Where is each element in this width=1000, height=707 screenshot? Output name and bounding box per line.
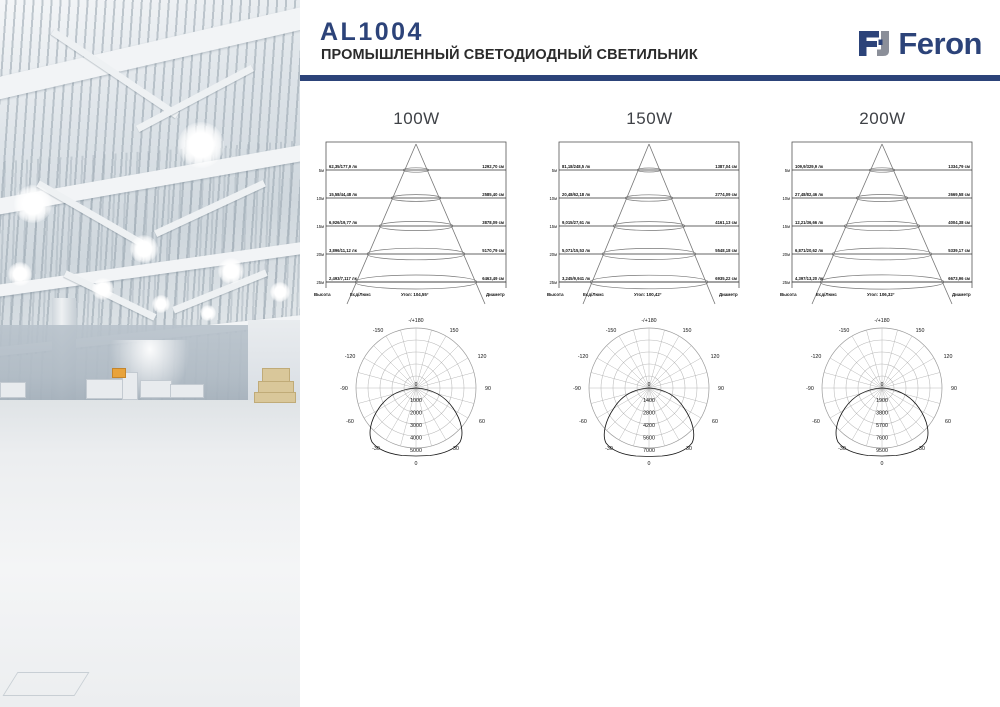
equipment [0, 382, 26, 398]
brand-wordmark: Feron [898, 28, 982, 59]
chart-column-150w: 150W 5м 1 [533, 84, 766, 504]
angle-tick-180: -/+180 [408, 318, 423, 324]
height-label: 20м [316, 252, 324, 257]
diameter-value: 5339,17 см [948, 248, 970, 253]
ecd-lux-value: 4,397/13,20 лк [795, 276, 824, 281]
angle-tick-minus90: -90 [573, 386, 581, 392]
diameter-value: 3878,09 см [482, 220, 504, 225]
height-label: 25м [782, 280, 790, 285]
diameter-value: 2669,58 см [948, 192, 970, 197]
height-label: 5м [785, 168, 790, 173]
diameter-value: 2774,09 см [715, 192, 737, 197]
axis-caption-height: Высота [314, 292, 331, 297]
ring-label: 3800 [876, 411, 888, 417]
ecd-lux-value: 81,18/248,5 лк [562, 164, 591, 169]
chart-title-100w: 100W [300, 109, 533, 129]
equipment [112, 368, 126, 378]
header: AL1004 ПРОМЫШЛЕННЫЙ СВЕТОДИОДНЫЙ СВЕТИЛЬ… [300, 0, 1000, 78]
axis-caption-diameter: Диаметр [486, 292, 505, 297]
angle-tick-180: -/+180 [641, 318, 656, 324]
ecd-lux-value: 27,48/82,46 лк [795, 192, 824, 197]
axis-caption-ecd: Есд/Люкс [816, 292, 837, 297]
angle-tick-60: 60 [479, 419, 485, 425]
equipment [170, 384, 204, 398]
ring-label: 2800 [643, 411, 655, 417]
ecd-lux-value: 15,58/44,48 лк [329, 192, 358, 197]
angle-tick-minus90: -90 [806, 386, 814, 392]
beam-diagram-200w: 5м 10м 15м 20м 25м 109,9/329,9 лк 27,48/… [766, 136, 999, 306]
angle-tick-30: 30 [686, 446, 692, 452]
diameter-value: 6935,22 см [715, 276, 737, 281]
ecd-lux-value: 2,493/7,117 лк [329, 276, 358, 281]
height-label: 10м [549, 196, 557, 201]
pallet-crate [254, 392, 296, 403]
angle-tick-minus30: -30 [605, 446, 613, 452]
ring-label: 7000 [643, 448, 655, 454]
ecd-lux-value: 62,35/177,9 лк [329, 164, 358, 169]
angle-tick-60: 60 [945, 419, 951, 425]
diameter-value: 6463,49 см [482, 276, 504, 281]
header-divider [300, 75, 1000, 81]
axis-caption-ecd: Есд/Люкс [583, 292, 604, 297]
height-label: 5м [319, 168, 324, 173]
axis-caption-height: Высота [547, 292, 564, 297]
highbay-lamp [130, 235, 158, 263]
diameter-value: 1292,70 см [482, 164, 504, 169]
pallet-crate [262, 368, 290, 382]
angle-tick-150: 150 [683, 328, 692, 334]
height-label: 15м [549, 224, 557, 229]
ecd-lux-value: 9,015/27,61 лк [562, 220, 591, 225]
ecd-lux-value: 12,21/36,66 лк [795, 220, 824, 225]
ecd-lux-value: 20,48/62,18 лк [562, 192, 591, 197]
polar-diagram-200w: 0 1900 3800 5700 7600 9500 0 -/+180 -150… [766, 308, 999, 488]
ring-label: 2000 [410, 411, 422, 417]
angle-tick-150: 150 [450, 328, 459, 334]
axis-caption-angle: Угол: 106,32° [867, 292, 895, 297]
diameter-value: 5548,18 см [715, 248, 737, 253]
ring-label: 5700 [876, 423, 888, 429]
angle-tick-30: 30 [919, 446, 925, 452]
beam-diagram-150w: 5м 10м 15м 20м 25м 81,18/248,5 лк 20,48/… [533, 136, 766, 306]
polar-diagram-100w: 0 1000 2000 3000 4000 5000 0 -/+180 -150… [300, 308, 533, 488]
ring-label: 5000 [410, 448, 422, 454]
angle-tick-120: 120 [711, 354, 720, 360]
diameter-value: 6673,96 см [948, 276, 970, 281]
angle-tick-minus90: -90 [340, 386, 348, 392]
ring-label: 4200 [643, 423, 655, 429]
page-title: AL1004 [320, 18, 424, 47]
ring-label: 1900 [876, 398, 888, 404]
polar-diagram-150w: 0 1400 2800 4200 5600 7000 0 -/+180 -150… [533, 308, 766, 488]
ecd-lux-value: 3,896/11,12 лк [329, 248, 358, 253]
angle-tick-90: 90 [951, 386, 957, 392]
highbay-lamp [200, 305, 216, 321]
equipment [140, 380, 172, 398]
chart-title-200w: 200W [766, 109, 999, 129]
axis-caption-angle: Угол: 104,55° [401, 292, 429, 297]
angle-tick-minus120: -120 [345, 354, 356, 360]
angle-tick-120: 120 [944, 354, 953, 360]
highbay-lamp [218, 258, 244, 284]
axis-caption-diameter: Диаметр [952, 292, 971, 297]
ring-label: 5600 [643, 436, 655, 442]
height-label: 10м [316, 196, 324, 201]
polar-bottom-label: 0 [415, 461, 418, 467]
polar-center-label: 0 [648, 382, 651, 388]
height-label: 25м [316, 280, 324, 285]
feron-mark-icon [857, 28, 891, 59]
chart-title-150w: 150W [533, 109, 766, 129]
beam-diagram-100w: 5м 10м 15м 20м 25м 62,35/177,9 лк 15,58/… [300, 136, 533, 306]
warehouse-floor [0, 400, 300, 707]
height-label: 10м [782, 196, 790, 201]
warehouse-photo [0, 0, 300, 707]
angle-tick-minus150: -150 [839, 328, 850, 334]
angle-tick-minus150: -150 [373, 328, 384, 334]
axis-caption-ecd: Есд/Люкс [350, 292, 371, 297]
ring-label: 7600 [876, 436, 888, 442]
ring-label: 4000 [410, 436, 422, 442]
height-label: 25м [549, 280, 557, 285]
angle-tick-minus150: -150 [606, 328, 617, 334]
page-subtitle: ПРОМЫШЛЕННЫЙ СВЕТОДИОДНЫЙ СВЕТИЛЬНИК [321, 47, 698, 63]
angle-tick-90: 90 [718, 386, 724, 392]
angle-tick-minus60: -60 [812, 419, 820, 425]
angle-tick-120: 120 [478, 354, 487, 360]
highbay-lamp [92, 278, 114, 300]
photometry-charts: 100W [300, 84, 1000, 504]
diameter-value: 5170,79 см [482, 248, 504, 253]
height-label: 20м [782, 252, 790, 257]
ecd-lux-value: 109,9/329,9 лк [795, 164, 824, 169]
diameter-value: 2585,40 см [482, 192, 504, 197]
highbay-lamp [8, 262, 32, 286]
highbay-lamp [152, 295, 170, 313]
polar-center-label: 0 [881, 382, 884, 388]
polar-center-label: 0 [415, 382, 418, 388]
angle-tick-minus60: -60 [346, 419, 354, 425]
angle-tick-180: -/+180 [874, 318, 889, 324]
ring-label: 3000 [410, 423, 422, 429]
ring-label: 1400 [643, 398, 655, 404]
diameter-value: 1387,04 см [715, 164, 737, 169]
angle-tick-150: 150 [916, 328, 925, 334]
brand-logo: Feron [857, 26, 982, 60]
angle-tick-30: 30 [453, 446, 459, 452]
datasheet-page: AL1004 ПРОМЫШЛЕННЫЙ СВЕТОДИОДНЫЙ СВЕТИЛЬ… [0, 0, 1000, 707]
ring-label: 9500 [876, 448, 888, 454]
axis-caption-diameter: Диаметр [719, 292, 738, 297]
chart-column-200w: 200W 5м 1 [766, 84, 999, 504]
equipment [86, 379, 124, 399]
highbay-lamp [178, 122, 224, 168]
polar-bottom-label: 0 [648, 461, 651, 467]
ring-label: 1000 [410, 398, 422, 404]
angle-tick-minus120: -120 [578, 354, 589, 360]
chart-column-100w: 100W [300, 84, 533, 504]
angle-tick-minus120: -120 [811, 354, 822, 360]
angle-tick-minus30: -30 [838, 446, 846, 452]
diameter-value: 4004,38 см [948, 220, 970, 225]
diameter-value: 4161,13 см [715, 220, 737, 225]
angle-tick-minus30: -30 [372, 446, 380, 452]
ecd-lux-value: 6,871/20,62 лк [795, 248, 824, 253]
height-label: 5м [552, 168, 557, 173]
angle-tick-minus60: -60 [579, 419, 587, 425]
axis-caption-angle: Угол: 100,42° [634, 292, 662, 297]
polar-bottom-label: 0 [881, 461, 884, 467]
highbay-lamp [270, 282, 290, 302]
height-label: 15м [782, 224, 790, 229]
axis-caption-height: Высота [780, 292, 797, 297]
height-label: 15м [316, 224, 324, 229]
height-label: 20м [549, 252, 557, 257]
ecd-lux-value: 5,071/15,53 лк [562, 248, 591, 253]
ecd-lux-value: 3,245/9,941 лк [562, 276, 591, 281]
diameter-value: 1334,79 см [948, 164, 970, 169]
angle-tick-60: 60 [712, 419, 718, 425]
highbay-lamp [14, 185, 52, 223]
ecd-lux-value: 6,926/19,77 лк [329, 220, 358, 225]
angle-tick-90: 90 [485, 386, 491, 392]
